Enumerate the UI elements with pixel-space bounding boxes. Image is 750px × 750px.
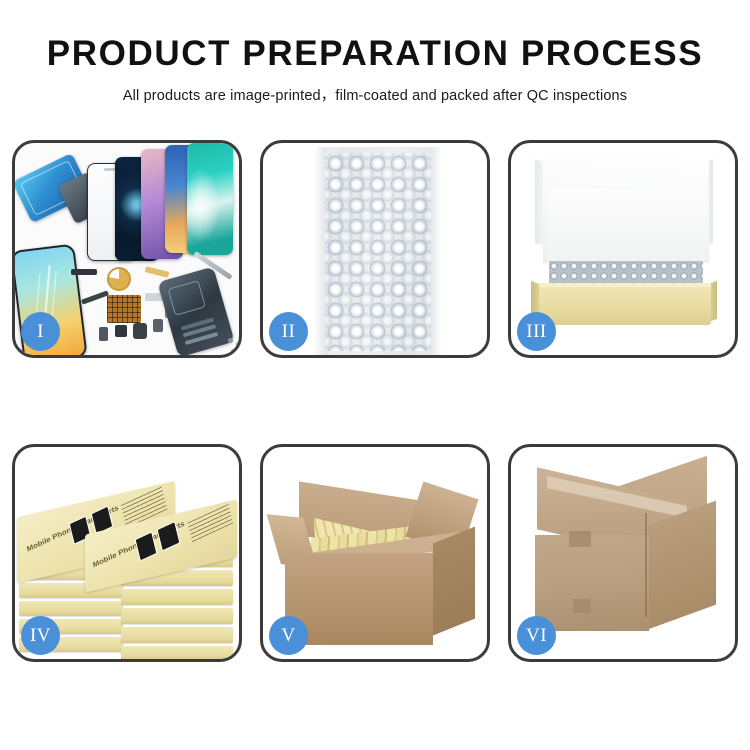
carton-handle-tab — [569, 531, 591, 547]
mesh-part-graphic — [107, 295, 141, 323]
process-step-5[interactable]: V — [260, 444, 490, 662]
process-step-4[interactable]: Mobile Phone Spare Parts Mobile Phone Sp… — [12, 444, 242, 662]
stacked-box — [121, 627, 233, 643]
carton-seam — [645, 513, 647, 617]
flex-cable-graphic — [81, 290, 109, 304]
carton-side — [433, 527, 475, 636]
chip-part-graphic — [133, 323, 147, 339]
foam-sheet-graphic — [547, 189, 705, 263]
box-front-graphic — [539, 287, 711, 325]
carton-front — [535, 535, 649, 631]
box-spec-lines — [187, 501, 233, 542]
step-badge-1: I — [21, 312, 60, 351]
process-step-1[interactable]: I — [12, 140, 242, 358]
coil-part-graphic — [107, 267, 131, 291]
step-badge-5: V — [269, 616, 308, 655]
stacked-box — [121, 608, 233, 624]
chip-part-graphic — [99, 327, 108, 341]
process-step-6[interactable]: VI — [508, 444, 738, 662]
chip-part-graphic — [115, 325, 127, 337]
step-badge-3: III — [517, 312, 556, 351]
chip-part-graphic — [153, 319, 163, 332]
carton-handle-tab — [573, 599, 591, 613]
screws-graphic — [228, 338, 233, 343]
bubble-grid-overlay-graphic — [325, 153, 431, 351]
step-badge-6: VI — [517, 616, 556, 655]
teal-screen-graphic — [187, 143, 233, 255]
process-step-2[interactable]: II — [260, 140, 490, 358]
step-badge-2: II — [269, 312, 308, 351]
stacked-box — [19, 601, 123, 616]
phone-chassis-graphic — [157, 267, 234, 355]
page-header: PRODUCT PREPARATION PROCESS All products… — [0, 0, 750, 105]
stacked-box — [121, 646, 233, 659]
process-step-3[interactable]: III — [508, 140, 738, 358]
step-badge-4: IV — [21, 616, 60, 655]
page-subtitle: All products are image-printed，film-coat… — [0, 84, 750, 105]
flex-cable-graphic — [145, 266, 170, 278]
connector-part-graphic — [71, 269, 97, 275]
page-title: PRODUCT PREPARATION PROCESS — [0, 36, 750, 73]
process-grid: I II III — [12, 140, 738, 662]
stacked-box — [121, 589, 233, 605]
